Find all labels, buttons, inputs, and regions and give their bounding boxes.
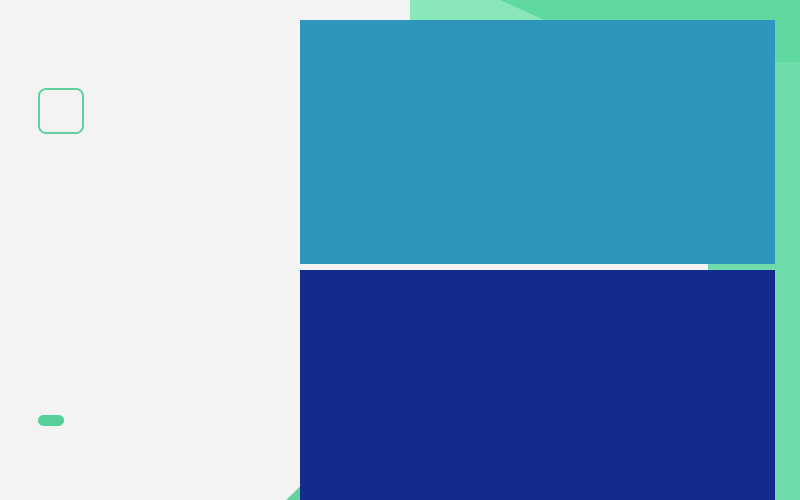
preview-bottom-navy [300,270,775,500]
ai-format-badge [38,88,84,134]
poster-canvas [0,0,800,500]
preview-top-teal [300,20,775,264]
volume-badge [38,415,64,426]
